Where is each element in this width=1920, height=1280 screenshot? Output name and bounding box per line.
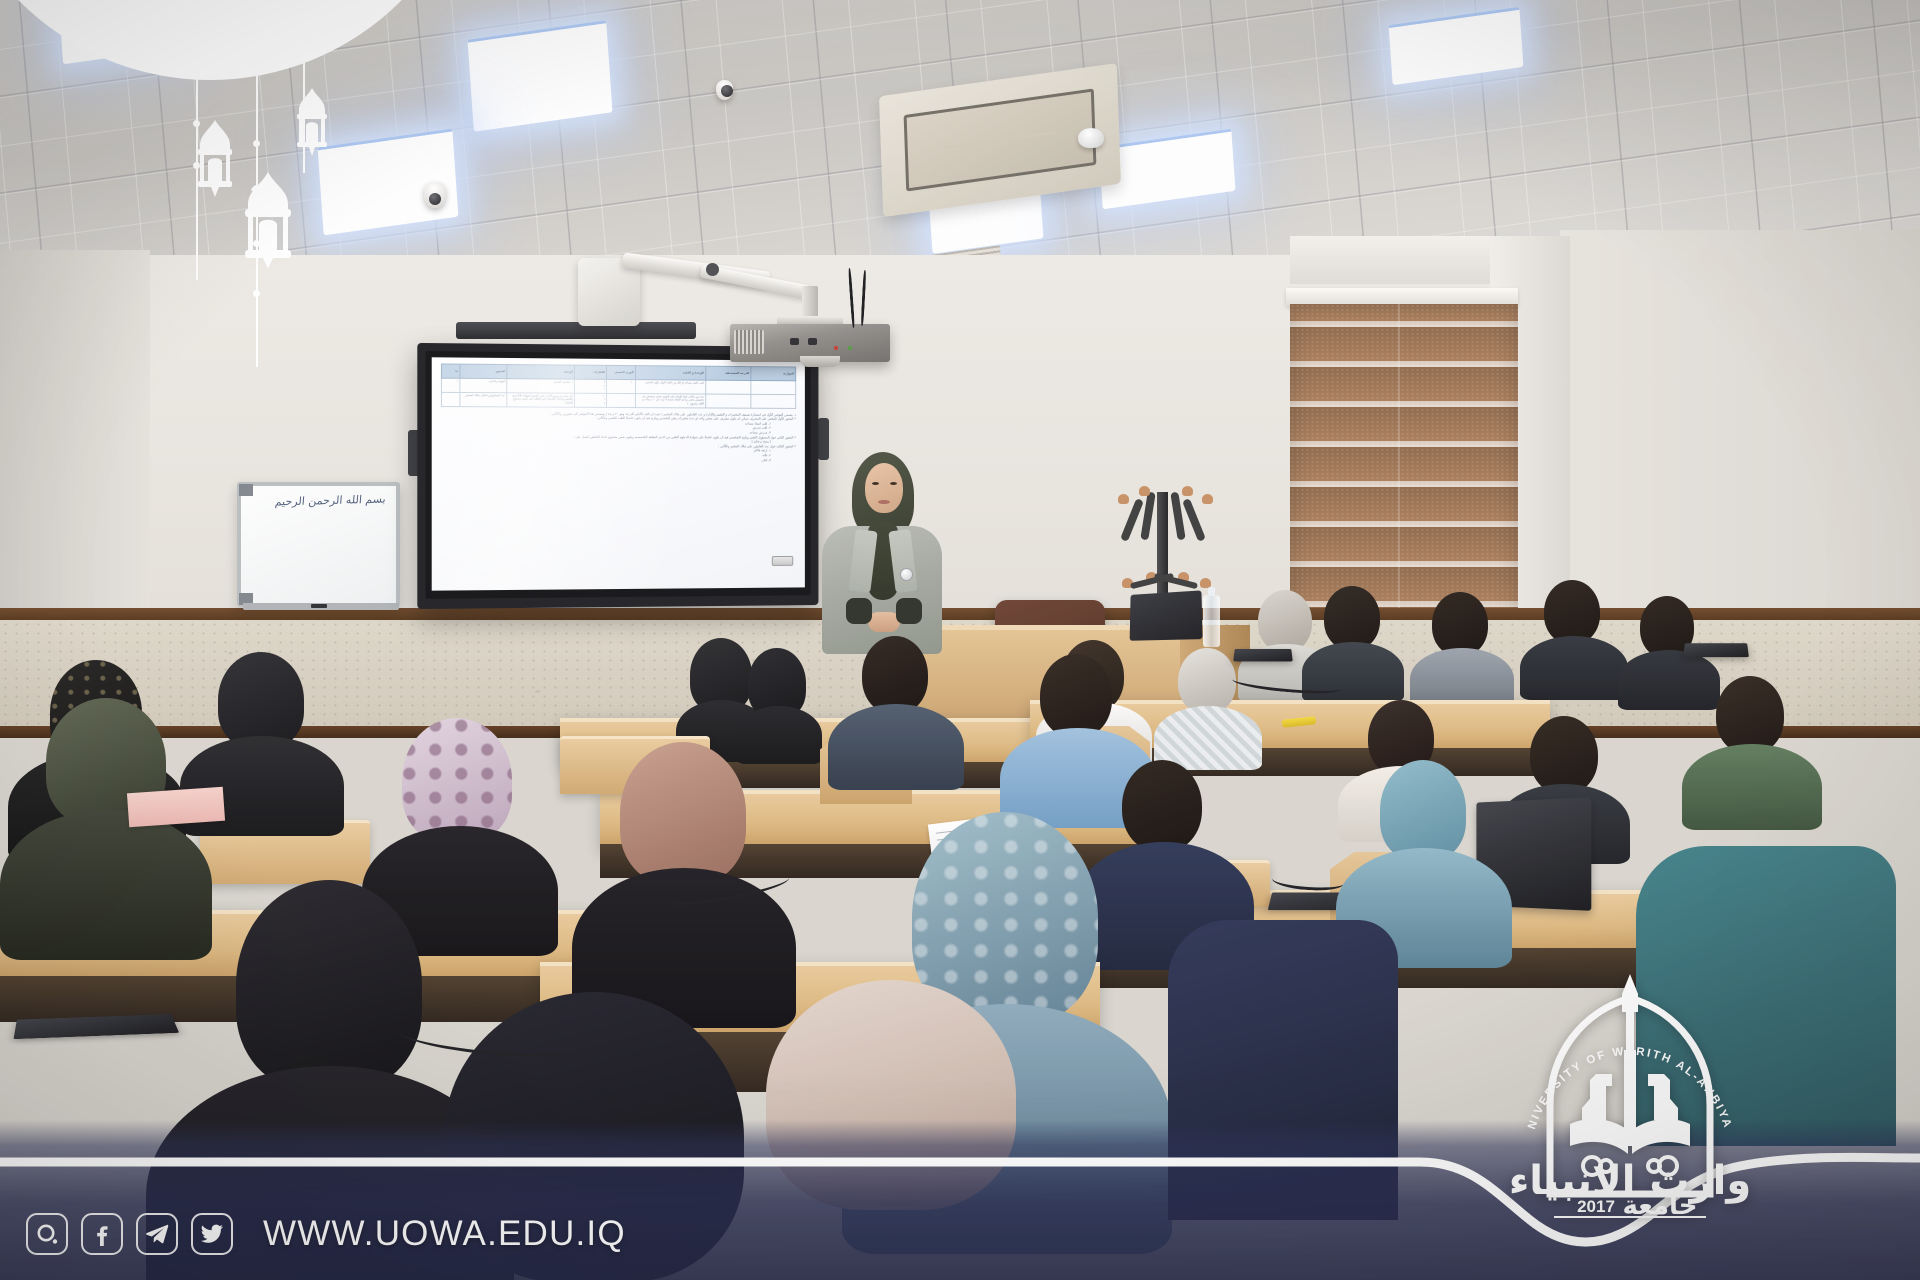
head: [1716, 676, 1784, 754]
coat-rack-hook[interactable]: [1118, 494, 1129, 504]
head: [1258, 590, 1312, 652]
lantern-icon: [283, 86, 341, 158]
shoulders: [1682, 744, 1822, 830]
head: [862, 636, 928, 714]
water-bottle[interactable]: [1203, 595, 1220, 647]
head: [1324, 586, 1380, 650]
whiteboard-text: بسم الله الرحمن الرحيم: [275, 493, 387, 509]
shoulders: [828, 704, 964, 790]
blinds-seam: [1398, 304, 1400, 622]
shoulders: [1520, 636, 1628, 700]
website-url[interactable]: WWW.UOWA.EDU.IQ: [263, 1214, 626, 1254]
presenter-badge: [900, 568, 913, 581]
audience-laptop[interactable]: [1233, 649, 1292, 662]
hijab-floral: [402, 718, 512, 842]
facebook-icon[interactable]: [81, 1213, 123, 1255]
head: [1040, 654, 1112, 738]
security-camera-icon: [424, 182, 446, 208]
desk-paper[interactable]: [127, 787, 225, 828]
head: [1178, 648, 1236, 714]
presenter-sleeve-right: [896, 598, 922, 624]
left-wall: [0, 250, 150, 670]
presenter-mouth: [878, 500, 890, 504]
hijab: [236, 880, 422, 1090]
lantern-bead: [253, 140, 260, 147]
projected-slide: ت المحور الوصف الفقرات الوزن النسبي الوح…: [432, 357, 805, 590]
projector-port: [808, 338, 817, 345]
audience-laptop[interactable]: [14, 1014, 180, 1039]
coat-rack-hook[interactable]: [1202, 494, 1213, 504]
slide-th: الموازنة: [751, 367, 796, 381]
projector-vent: [734, 330, 764, 354]
head: [1432, 592, 1488, 656]
logo-arabic-sub: جامعة: [1622, 1191, 1697, 1218]
audience-laptop[interactable]: [1683, 643, 1749, 657]
coat-rack-hook[interactable]: [1182, 486, 1193, 496]
photo-scene: بسم الله الرحمن الرحيم ت المحور الوصف ال…: [0, 0, 1920, 1280]
screen-top-mount-bar: [456, 322, 696, 339]
ac-unit-grill: [944, 131, 1057, 149]
head: [1122, 760, 1202, 852]
shoulders: [0, 810, 212, 960]
shoulders: [736, 706, 822, 764]
screen-control-button[interactable]: [772, 556, 793, 566]
head: [1530, 716, 1598, 794]
projector-led-green: [848, 346, 852, 350]
presenter-face: [865, 463, 903, 513]
slide-td: [751, 380, 796, 394]
presenter: [812, 452, 952, 652]
presenter-laptop[interactable]: [1130, 590, 1203, 640]
twitter-icon[interactable]: [191, 1213, 233, 1255]
window-zebra-blinds[interactable]: [1290, 304, 1518, 622]
hijab: [218, 652, 304, 748]
ceiling-light-panel: [467, 20, 612, 131]
coat-rack-hook[interactable]: [1139, 486, 1150, 496]
logo-year: 2017: [1577, 1197, 1615, 1216]
hijab: [1380, 760, 1466, 860]
lantern-icon: [226, 170, 310, 270]
smoke-detector-icon: [1078, 128, 1104, 148]
whiteboard[interactable]: بسم الله الرحمن الرحيم: [237, 482, 400, 607]
interactive-whiteboard-screen[interactable]: ت المحور الوصف الفقرات الوزن النسبي الوح…: [417, 343, 818, 609]
projector-led-red: [834, 346, 838, 350]
presenter-eye: [890, 482, 897, 485]
projector-port: [790, 338, 799, 345]
blinds-texture: [1290, 304, 1518, 622]
projector-mount-post: [802, 286, 818, 320]
telegram-icon[interactable]: [136, 1213, 178, 1255]
head: [1544, 580, 1600, 644]
lantern-bead: [253, 290, 260, 297]
presenter-eye: [872, 482, 879, 485]
projector-lens: [800, 356, 840, 367]
ac-unit-frame: [904, 88, 1097, 191]
whiteboard-marker[interactable]: [311, 604, 327, 608]
hijab: [620, 742, 746, 884]
university-logo: UNIVERSITY OF WARITH AL-ANBIYAA وارث الا…: [1510, 968, 1750, 1218]
shoulders: [1618, 650, 1720, 710]
projector-arm-joint: [706, 263, 719, 276]
presenter-sleeve-left: [846, 598, 872, 624]
logo-arc-text: UNIVERSITY OF WARITH AL-ANBIYAA: [1510, 968, 1734, 1131]
whiteboard-corner: [239, 484, 253, 496]
right-wall: [1560, 230, 1920, 660]
slide-td: [751, 394, 796, 408]
instagram-icon[interactable]: [26, 1213, 68, 1255]
security-camera-icon: [716, 80, 733, 100]
